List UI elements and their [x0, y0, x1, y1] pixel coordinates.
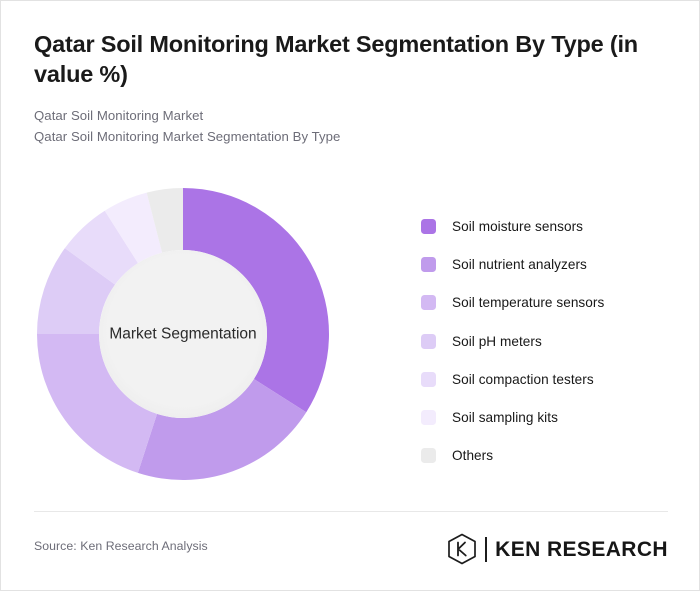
page-title: Qatar Soil Monitoring Market Segmentatio… — [34, 29, 662, 89]
footer-divider — [34, 511, 668, 512]
legend-item-label: Soil nutrient analyzers — [452, 257, 587, 272]
breadcrumb-item-market: Qatar Soil Monitoring Market — [34, 106, 662, 126]
legend-swatch-icon — [421, 257, 436, 272]
legend-item[interactable]: Soil moisture sensors — [421, 207, 681, 245]
legend-item-label: Soil pH meters — [452, 334, 542, 349]
legend-item-label: Others — [452, 448, 493, 463]
legend-swatch-icon — [421, 334, 436, 349]
legend-item[interactable]: Soil nutrient analyzers — [421, 245, 681, 283]
chart-card: Qatar Soil Monitoring Market Segmentatio… — [0, 0, 700, 591]
legend-swatch-icon — [421, 219, 436, 234]
legend-swatch-icon — [421, 448, 436, 463]
brand-wordmark: KEN RESEARCH — [495, 539, 668, 560]
legend-item[interactable]: Soil sampling kits — [421, 398, 681, 436]
brand-logo: KEN RESEARCH — [446, 532, 668, 566]
legend-item-label: Soil temperature sensors — [452, 295, 604, 310]
legend-item[interactable]: Soil compaction testers — [421, 360, 681, 398]
legend-swatch-icon — [421, 295, 436, 310]
breadcrumb: Qatar Soil Monitoring Market Qatar Soil … — [34, 106, 662, 147]
breadcrumb-item-segmentation: Qatar Soil Monitoring Market Segmentatio… — [34, 127, 662, 147]
chart-header: Qatar Soil Monitoring Market Segmentatio… — [34, 29, 662, 147]
donut-center-label: Market Segmentation — [109, 326, 256, 343]
legend-item-label: Soil sampling kits — [452, 410, 558, 425]
donut-chart: Market Segmentation — [34, 169, 334, 499]
legend-swatch-icon — [421, 410, 436, 425]
source-note: Source: Ken Research Analysis — [34, 539, 208, 553]
legend-item[interactable]: Others — [421, 437, 681, 475]
legend-item-label: Soil moisture sensors — [452, 219, 583, 234]
donut-svg: Market Segmentation — [34, 169, 334, 499]
brand-divider — [485, 537, 487, 562]
legend-item[interactable]: Soil pH meters — [421, 322, 681, 360]
chart-legend: Soil moisture sensorsSoil nutrient analy… — [421, 207, 681, 475]
legend-item-label: Soil compaction testers — [452, 372, 594, 387]
ken-monogram-icon — [446, 533, 478, 565]
chart-body: Market Segmentation Soil moisture sensor… — [1, 169, 700, 499]
legend-swatch-icon — [421, 372, 436, 387]
chart-footer: Source: Ken Research Analysis KEN RESEAR… — [34, 532, 668, 572]
legend-item[interactable]: Soil temperature sensors — [421, 284, 681, 322]
